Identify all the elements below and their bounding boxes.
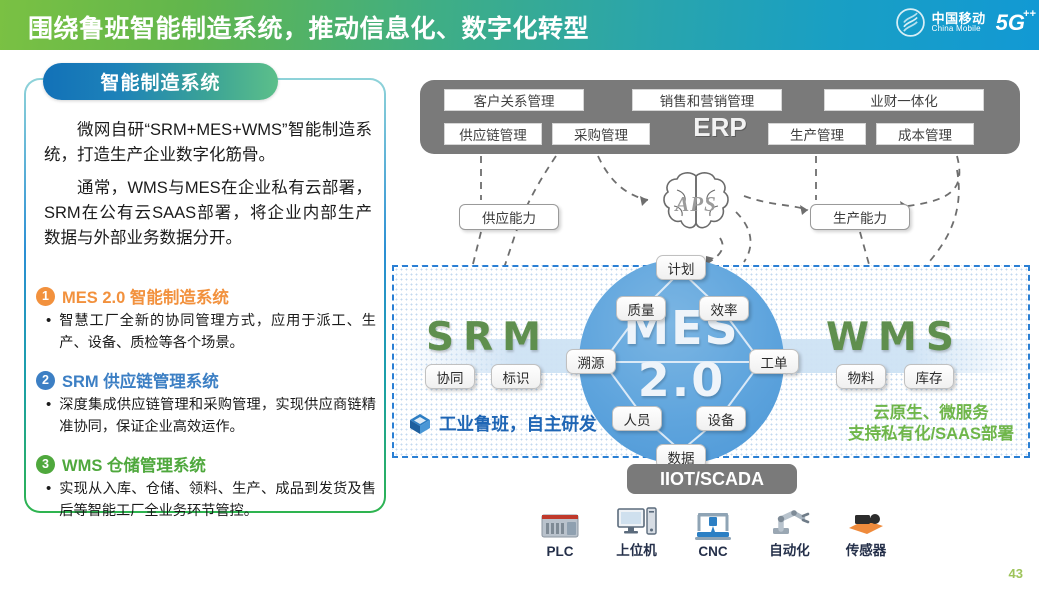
panel-tab-label: 智能制造系统 [43,63,278,100]
diamond-cube-icon [408,412,432,436]
section-heading-mes: 1 MES 2.0 智能制造系统 [36,284,229,308]
wms-node-material[interactable]: 物料 [836,364,886,389]
capability-box-production[interactable]: 生产能力 [810,204,910,230]
device-label-cnc: CNC [681,544,745,559]
bullet-dot: • [46,478,51,522]
luban-badge: 工业鲁班，自主研发 [408,411,597,436]
section-badge-2: 2 [36,371,55,390]
erp-chip-procurement[interactable]: 采购管理 [552,123,650,145]
brand-text: 中国移动 China Mobile [932,12,986,33]
five-g-plus: ++ [1023,8,1036,20]
five-g-text: 5G [996,10,1025,35]
cloud-note-line-2: 支持私有化/SAAS部署 [848,424,1014,445]
intelligent-manufacturing-panel: 微网自研“SRM+MES+WMS”智能制造系统，打造生产企业数字化筋骨。 通常，… [24,78,386,513]
erp-chip-sales[interactable]: 销售和营销管理 [632,89,782,111]
section-title-3: WMS 仓储管理系统 [62,452,206,476]
robot-arm-icon [758,504,822,536]
luban-label: 工业鲁班，自主研发 [439,411,597,436]
device-label-plc: PLC [528,544,592,559]
panel-paragraph-2: 通常，WMS与MES在企业私有云部署，SRM在公有云SAAS部署，将企业内部生产… [44,176,372,251]
srm-node-collaboration[interactable]: 协同 [425,364,475,389]
device-label-automation: 自动化 [758,539,822,559]
section-bullet-1: • 智慧工厂全新的协同管理方式，应用于派工、生产、设备、质检等各个场景。 [46,310,376,354]
section-badge-3: 3 [36,455,55,474]
platform-region: MES 2.0 计划 质量 效率 溯源 工单 人员 设备 数据 SRM 协同 标… [392,265,1030,458]
panel-tab-text: 智能制造系统 [100,68,220,95]
erp-container: ERP 客户关系管理 销售和营销管理 业财一体化 供应链管理 采购管理 生产管理… [420,80,1020,154]
five-g-logo: 5G ++ [996,10,1025,36]
device-host-computer: 上位机 [605,504,669,559]
device-cnc: CNC [681,509,745,559]
bullet-dot: • [46,310,51,354]
host-computer-icon [605,504,669,536]
aps-brain: APS [652,168,740,240]
page-title: 围绕鲁班智能制造系统，推动信息化、数字化转型 [28,9,589,45]
mes-node-personnel[interactable]: 人员 [612,406,662,431]
device-plc: PLC [528,509,592,559]
section-bullet-3: • 实现从入库、仓储、领料、生产、成品到发货及售后等智能工厂全业务环节管控。 [46,478,376,522]
device-label-sensor: 传感器 [834,539,898,559]
brand-name-en: China Mobile [932,25,986,33]
cloud-deployment-note: 云原生、微服务 支持私有化/SAAS部署 [848,403,1014,446]
srm-wordmark: SRM [426,315,550,360]
mes-node-equipment[interactable]: 设备 [696,406,746,431]
section-title-2: SRM 供应链管理系统 [62,368,219,392]
aps-label: APS [652,192,740,217]
sensor-icon [834,504,898,536]
mes-node-traceability[interactable]: 溯源 [566,349,616,374]
erp-chip-supply-chain[interactable]: 供应链管理 [444,123,542,145]
slide-root: 围绕鲁班智能制造系统，推动信息化、数字化转型 中国移动 China Mobile… [0,0,1039,589]
capability-box-supply[interactable]: 供应能力 [459,204,559,230]
iiot-scada-bar: IIOT/SCADA [627,464,797,494]
section-badge-1: 1 [36,287,55,306]
mes-title: MES [579,306,784,351]
erp-chip-production[interactable]: 生产管理 [768,123,866,145]
bullet-text: 深度集成供应链管理和采购管理，实现供应商链精准协同，保证企业高效运作。 [59,394,376,438]
erp-chip-cost[interactable]: 成本管理 [876,123,974,145]
mes-node-work-order[interactable]: 工单 [749,349,799,374]
section-bullet-2: • 深度集成供应链管理和采购管理，实现供应商链精准协同，保证企业高效运作。 [46,394,376,438]
mes-node-quality[interactable]: 质量 [616,296,666,321]
section-heading-srm: 2 SRM 供应链管理系统 [36,368,219,392]
cloud-note-line-1: 云原生、微服务 [848,403,1014,424]
mes-node-efficiency[interactable]: 效率 [699,296,749,321]
section-title-1: MES 2.0 智能制造系统 [62,284,229,308]
cnc-machine-icon [681,509,745,541]
china-mobile-brand: 中国移动 China Mobile 5G ++ [896,8,1025,37]
bullet-dot: • [46,394,51,438]
erp-chip-finance[interactable]: 业财一体化 [824,89,984,111]
srm-node-identification[interactable]: 标识 [491,364,541,389]
device-automation: 自动化 [758,504,822,559]
section-heading-wms: 3 WMS 仓储管理系统 [36,452,206,476]
device-row: PLC 上位机 [528,503,898,559]
wms-node-inventory[interactable]: 库存 [904,364,954,389]
panel-paragraph-1: 微网自研“SRM+MES+WMS”智能制造系统，打造生产企业数字化筋骨。 [44,118,372,168]
wms-wordmark: WMS [826,315,963,360]
page-number: 43 [1009,566,1023,581]
bullet-text: 智慧工厂全新的协同管理方式，应用于派工、生产、设备、质检等各个场景。 [59,310,376,354]
device-label-host: 上位机 [605,539,669,559]
brand-name-cn: 中国移动 [932,12,986,25]
plc-icon [528,509,592,541]
bullet-text: 实现从入库、仓储、领料、生产、成品到发货及售后等智能工厂全业务环节管控。 [59,478,376,522]
erp-chip-crm[interactable]: 客户关系管理 [444,89,584,111]
slide-header: 围绕鲁班智能制造系统，推动信息化、数字化转型 中国移动 China Mobile… [0,0,1039,50]
mes-node-plan[interactable]: 计划 [656,255,706,280]
china-mobile-logo-icon [896,8,925,37]
device-sensor: 传感器 [834,504,898,559]
